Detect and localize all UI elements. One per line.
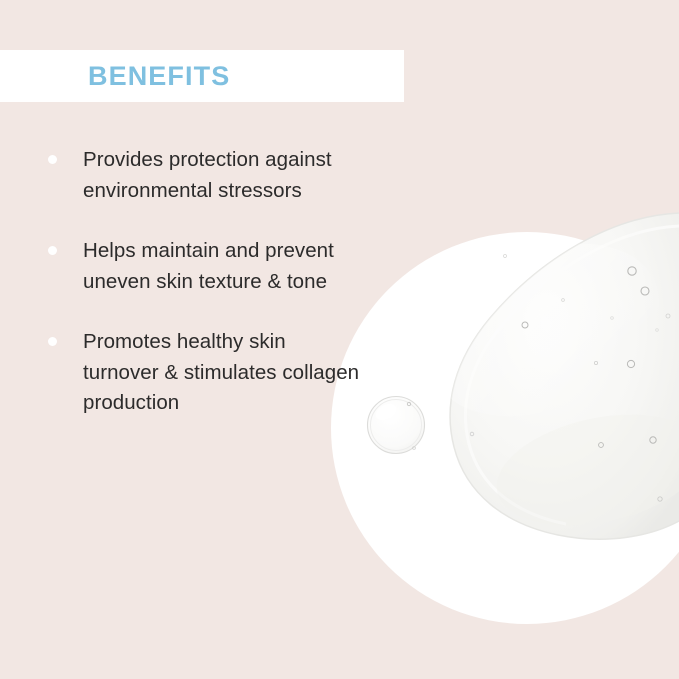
benefit-text: Provides protection against environmenta… [83, 145, 360, 206]
list-item: Promotes healthy skin turnover & stimula… [0, 327, 360, 419]
benefits-list: Provides protection against environmenta… [0, 145, 360, 419]
white-circle-plate [331, 232, 679, 624]
small-serum-droplet [368, 397, 425, 454]
serum-gel-droplet [404, 210, 679, 543]
benefit-text: Helps maintain and prevent uneven skin t… [83, 236, 360, 297]
list-item: Helps maintain and prevent uneven skin t… [0, 236, 360, 297]
gel-bubbles [470, 255, 670, 502]
bullet-dot-icon [48, 337, 57, 346]
benefits-panel: BENEFITS Provides protection against env… [0, 0, 679, 679]
bullet-dot-icon [48, 155, 57, 164]
page-title: BENEFITS [0, 63, 230, 90]
header-band: BENEFITS [0, 50, 404, 102]
bullet-dot-icon [48, 246, 57, 255]
list-item: Provides protection against environmenta… [0, 145, 360, 206]
benefit-text: Promotes healthy skin turnover & stimula… [83, 327, 360, 419]
